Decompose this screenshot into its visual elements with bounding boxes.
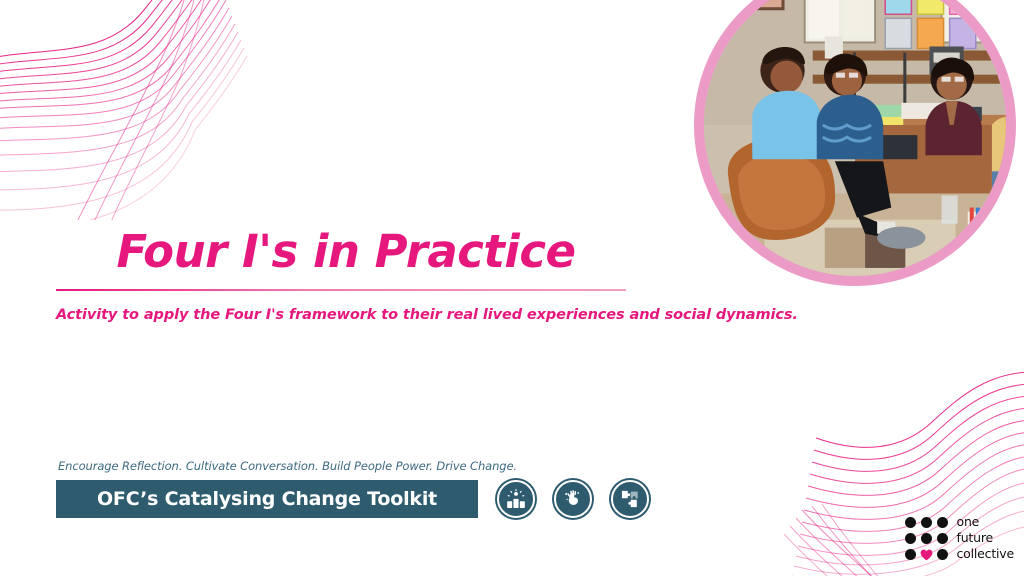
logo-dot-grid — [905, 517, 948, 560]
badge-activism[interactable] — [554, 480, 592, 518]
page-title: Four I's in Practice — [56, 228, 636, 275]
logo-line-future: future — [957, 530, 1015, 546]
logo-dot — [937, 549, 948, 560]
logo-dot — [921, 517, 932, 528]
raised-fist-icon — [562, 488, 584, 510]
page-subtitle: Activity to apply the Four I's framework… — [56, 291, 636, 323]
workshop-photo-illustration — [704, 0, 1006, 276]
title-block: Four I's in Practice Activity to apply t… — [56, 228, 636, 323]
photo-image — [704, 0, 1006, 276]
logo-dot — [921, 533, 932, 544]
slide-canvas: Four I's in Practice Activity to apply t… — [0, 0, 1024, 576]
toolkit-label: OFC’s Catalysing Change Toolkit — [97, 488, 437, 510]
logo-wordmark: one future collective — [957, 514, 1015, 562]
toolkit-bar: OFC’s Catalysing Change Toolkit — [56, 480, 478, 518]
wave-lines-decoration-top-left — [0, 0, 252, 220]
badge-row — [497, 480, 649, 518]
badge-community[interactable] — [497, 480, 535, 518]
logo-line-collective: collective — [957, 546, 1015, 562]
community-group-icon — [505, 488, 527, 510]
logo-dot — [905, 533, 916, 544]
heart-glyph — [920, 549, 933, 561]
logo-line-one: one — [957, 514, 1015, 530]
photo-circle — [694, 0, 1016, 286]
puzzle-pieces-icon — [619, 488, 641, 510]
footer-row: OFC’s Catalysing Change Toolkit — [56, 480, 656, 518]
heart-icon — [921, 549, 932, 560]
badge-collaboration[interactable] — [611, 480, 649, 518]
logo-dot — [937, 517, 948, 528]
logo-dot — [905, 549, 916, 560]
footer: Encourage Reflection. Cultivate Conversa… — [56, 459, 656, 518]
logo-dot — [905, 517, 916, 528]
footer-tagline: Encourage Reflection. Cultivate Conversa… — [58, 459, 656, 473]
one-future-collective-logo: one future collective — [905, 514, 1015, 562]
logo-dot — [937, 533, 948, 544]
